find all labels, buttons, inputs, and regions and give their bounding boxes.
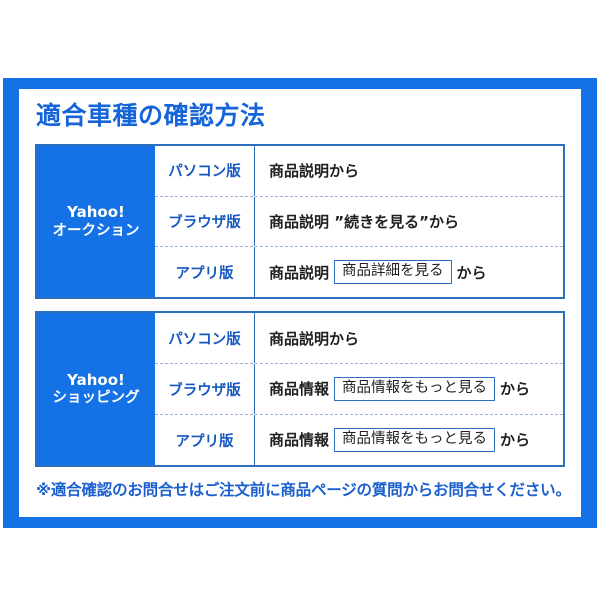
- boxed-button-label: 商品詳細を見る: [334, 260, 452, 284]
- brand-cell-shopping: Yahoo! ショッピング: [37, 313, 155, 465]
- instruction-suffix: から: [500, 378, 530, 399]
- platform-label: ブラウザ版: [155, 364, 255, 414]
- instruction-cell: 商品説明 ”続きを見る”から: [255, 211, 563, 232]
- rows-auction: パソコン版 商品説明から ブラウザ版 商品説明 ”続きを見る”から アプリ版 商…: [155, 146, 563, 297]
- table-row: ブラウザ版 商品説明 ”続きを見る”から: [155, 197, 563, 248]
- rows-shopping: パソコン版 商品説明から ブラウザ版 商品情報 商品情報をもっと見る から アプ…: [155, 313, 563, 465]
- instruction-prefix: 商品説明から: [269, 328, 359, 349]
- instruction-cell: 商品情報 商品情報をもっと見る から: [255, 377, 563, 401]
- table-row: アプリ版 商品情報 商品情報をもっと見る から: [155, 415, 563, 465]
- infographic-canvas: 適合車種の確認方法 Yahoo! オークション パソコン版 商品説明から ブラウ…: [0, 0, 600, 600]
- instruction-prefix: 商品情報: [269, 378, 329, 399]
- instruction-prefix: 商品情報: [269, 429, 329, 450]
- table-row: パソコン版 商品説明から: [155, 313, 563, 364]
- table-block-auction: Yahoo! オークション パソコン版 商品説明から ブラウザ版 商品説明 ”続…: [35, 144, 565, 299]
- table-row: ブラウザ版 商品情報 商品情報をもっと見る から: [155, 364, 563, 415]
- brand-cell-auction: Yahoo! オークション: [37, 146, 155, 297]
- instruction-cell: 商品説明から: [255, 160, 563, 181]
- boxed-button-label: 商品情報をもっと見る: [334, 377, 495, 401]
- instruction-suffix: から: [500, 429, 530, 450]
- platform-label: ブラウザ版: [155, 197, 255, 247]
- brand-label-line2: ショッピング: [53, 389, 140, 407]
- instruction-cell: 商品説明から: [255, 328, 563, 349]
- instruction-cell: 商品説明 商品詳細を見る から: [255, 260, 563, 284]
- instruction-prefix: 商品説明 ”続きを見る”から: [269, 211, 459, 232]
- footer-note: ※適合確認のお問合せはご注文前に商品ページの質問からお問合せください。: [36, 478, 566, 500]
- platform-label: アプリ版: [155, 415, 255, 465]
- instruction-prefix: 商品説明: [269, 262, 329, 283]
- instruction-cell: 商品情報 商品情報をもっと見る から: [255, 428, 563, 452]
- table-block-shopping: Yahoo! ショッピング パソコン版 商品説明から ブラウザ版 商品情報 商品…: [35, 311, 565, 467]
- boxed-button-label: 商品情報をもっと見る: [334, 428, 495, 452]
- brand-label-line1: Yahoo!: [67, 371, 125, 390]
- platform-label: アプリ版: [155, 247, 255, 297]
- table-row: アプリ版 商品説明 商品詳細を見る から: [155, 247, 563, 297]
- instruction-prefix: 商品説明から: [269, 160, 359, 181]
- instruction-suffix: から: [457, 262, 487, 283]
- page-title: 適合車種の確認方法: [36, 103, 266, 128]
- table-row: パソコン版 商品説明から: [155, 146, 563, 197]
- brand-label-line1: Yahoo!: [67, 203, 125, 222]
- platform-label: パソコン版: [155, 313, 255, 363]
- platform-label: パソコン版: [155, 146, 255, 196]
- brand-label-line2: オークション: [53, 222, 140, 240]
